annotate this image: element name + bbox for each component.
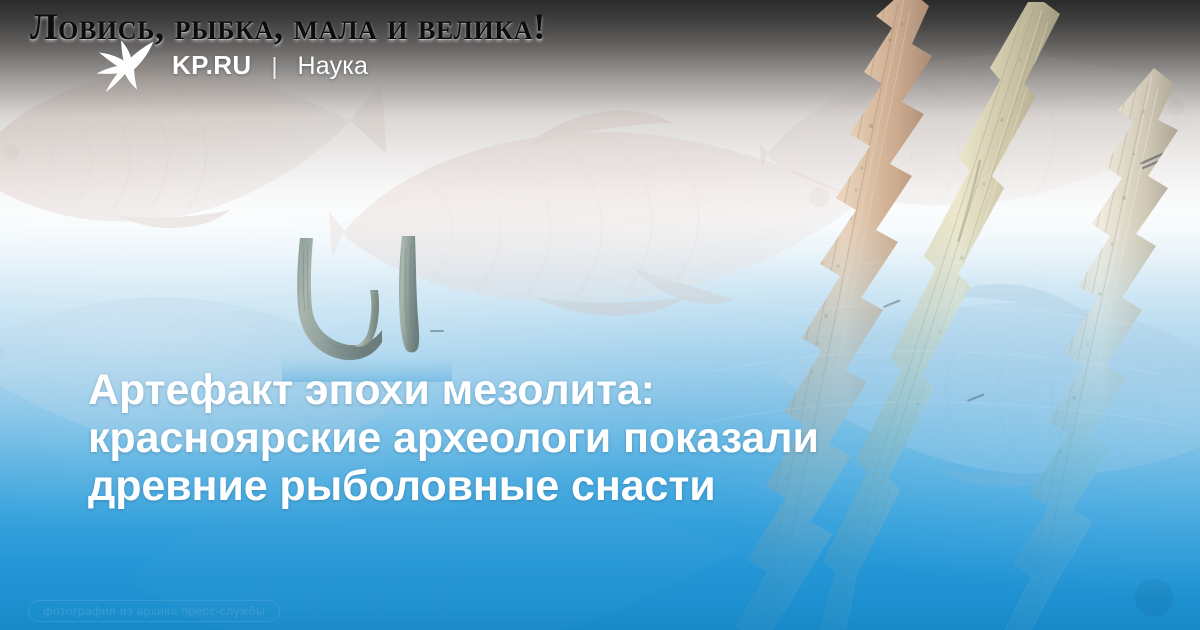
bone-fish-hook-artifact bbox=[282, 232, 452, 382]
brand-separator: | bbox=[272, 53, 278, 80]
social-card-canvas: Ловись, рыбка, мала и велика! KP.RU | На… bbox=[0, 0, 1200, 630]
site-header: Ловись, рыбка, мала и велика! KP.RU | На… bbox=[0, 0, 1200, 120]
article-title: Артефакт эпохи мезолита: красноярские ар… bbox=[88, 366, 1118, 510]
title-line-3: древние рыболовные снасти bbox=[88, 462, 1118, 510]
title-line-1: Артефакт эпохи мезолита: bbox=[88, 366, 1118, 414]
photo-credit: фотография из архива пресс-службы bbox=[28, 600, 280, 622]
brand-name[interactable]: KP.RU bbox=[172, 50, 252, 81]
brand-bar[interactable]: KP.RU | Наука bbox=[88, 42, 368, 90]
photo-credit-text: фотография из архива пресс-службы bbox=[43, 604, 265, 618]
section-name[interactable]: Наука bbox=[298, 52, 369, 81]
swallow-bird-icon bbox=[88, 35, 158, 97]
kp-roundel-watermark bbox=[1126, 574, 1182, 620]
title-line-2: красноярские археологи показали bbox=[88, 414, 1118, 462]
brand-text-group: KP.RU | Наука bbox=[172, 50, 368, 83]
